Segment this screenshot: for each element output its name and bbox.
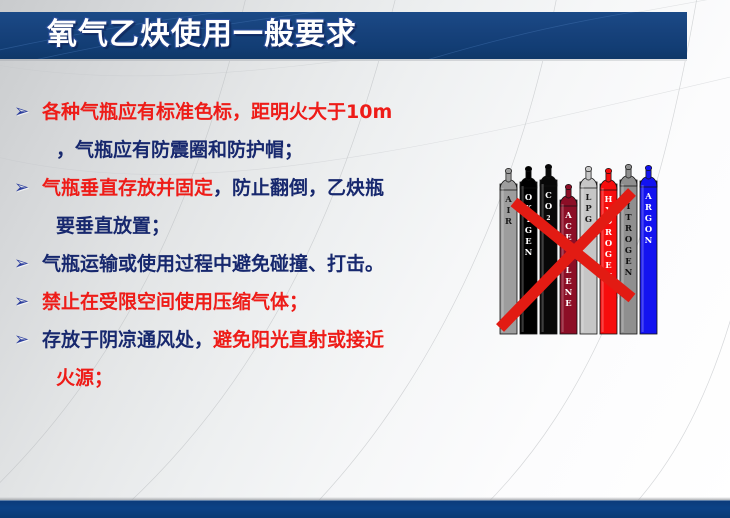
svg-text:T: T (625, 212, 632, 222)
bullet-text: 要垂直放置； (56, 215, 170, 237)
list-item: ➢ 气瓶运输或使用过程中避免碰撞、打击。 (12, 245, 482, 283)
svg-text:G: G (625, 245, 632, 255)
svg-text:O: O (525, 192, 532, 202)
list-item-continuation: 要垂直放置； (12, 207, 482, 245)
svg-text:H: H (605, 194, 613, 204)
list-item-continuation: 火源； (12, 359, 482, 397)
list-item: ➢ 气瓶垂直存放并固定，防止翻倒，乙炔瓶 (12, 169, 482, 207)
slide-canvas: 氧气乙炔使用一般要求 ➢ 各种气瓶应有标准色标，距明火大于10m ，气瓶应有防震… (0, 0, 730, 518)
svg-text:E: E (565, 298, 571, 308)
bullet-text: ，气瓶应有防震圈和防护帽； (56, 139, 303, 161)
list-item: ➢ 各种气瓶应有标准色标，距明火大于10m (12, 93, 482, 131)
bullet-text: 避免阳光直射或接近 (213, 329, 384, 351)
svg-text:E: E (625, 256, 631, 266)
bullet-arrow-icon: ➢ (14, 93, 40, 131)
list-item-continuation: ，气瓶应有防震圈和防护帽； (12, 131, 482, 169)
svg-text:O: O (545, 201, 552, 211)
bullet-list: ➢ 各种气瓶应有标准色标，距明火大于10m ，气瓶应有防震圈和防护帽； ➢ 气瓶… (12, 93, 482, 397)
bullet-text: 存放于阴凉通风处， (42, 329, 213, 351)
svg-text:N: N (625, 267, 633, 277)
bullet-text: ，防止翻倒，乙炔瓶 (213, 177, 384, 199)
svg-text:C: C (545, 190, 552, 200)
gas-cylinder-hydrogen: HYDROGEN (600, 168, 617, 334)
svg-text:G: G (605, 249, 612, 259)
bullet-text: 气瓶运输或使用过程中避免碰撞、打击。 (42, 253, 384, 275)
bullet-text: 各种气瓶应有标准色标，距明火大于10m (42, 101, 392, 123)
svg-text:R: R (505, 216, 513, 226)
svg-text:E: E (525, 236, 531, 246)
svg-text:R: R (605, 227, 613, 237)
gas-cylinder-argon: ARGON (640, 165, 657, 334)
svg-text:G: G (645, 213, 652, 223)
svg-text:E: E (605, 260, 611, 270)
svg-text:G: G (525, 225, 532, 235)
svg-text:C: C (565, 221, 572, 231)
svg-text:O: O (645, 224, 652, 234)
bullet-text: 禁止在受限空间使用压缩气体； (42, 291, 308, 313)
svg-text:L: L (586, 192, 592, 202)
svg-text:N: N (525, 247, 533, 257)
footer-strip (0, 500, 730, 518)
footer-highlight (0, 500, 730, 501)
svg-text:A: A (564, 210, 572, 220)
gas-cylinders-illustration: AIROXYGENCO2ACETYLENELPGHYDROGENNITROGEN… (492, 150, 682, 345)
svg-text:N: N (565, 287, 573, 297)
bullet-text: 气瓶垂直存放并固定 (42, 177, 213, 199)
bullet-arrow-icon: ➢ (14, 283, 40, 321)
svg-text:A: A (644, 191, 652, 201)
svg-text:P: P (585, 203, 592, 213)
svg-text:O: O (605, 238, 612, 248)
svg-text:R: R (645, 202, 653, 212)
svg-text:2: 2 (546, 215, 550, 222)
svg-text:O: O (625, 234, 632, 244)
bullet-arrow-icon: ➢ (14, 321, 40, 359)
page-title: 氧气乙炔使用一般要求 (47, 13, 357, 57)
svg-text:R: R (625, 223, 633, 233)
svg-text:G: G (585, 214, 592, 224)
gas-cylinder-co2: CO2 (540, 164, 557, 334)
svg-text:E: E (565, 276, 571, 286)
bullet-text: 火源； (56, 367, 113, 389)
svg-text:A: A (504, 194, 512, 204)
bullet-arrow-icon: ➢ (14, 169, 40, 207)
list-item: ➢ 禁止在受限空间使用压缩气体； (12, 283, 482, 321)
svg-text:N: N (645, 235, 653, 245)
list-item: ➢ 存放于阴凉通风处，避免阳光直射或接近 (12, 321, 482, 359)
bullet-arrow-icon: ➢ (14, 245, 40, 283)
svg-text:I: I (507, 205, 511, 215)
title-underline (0, 59, 687, 61)
